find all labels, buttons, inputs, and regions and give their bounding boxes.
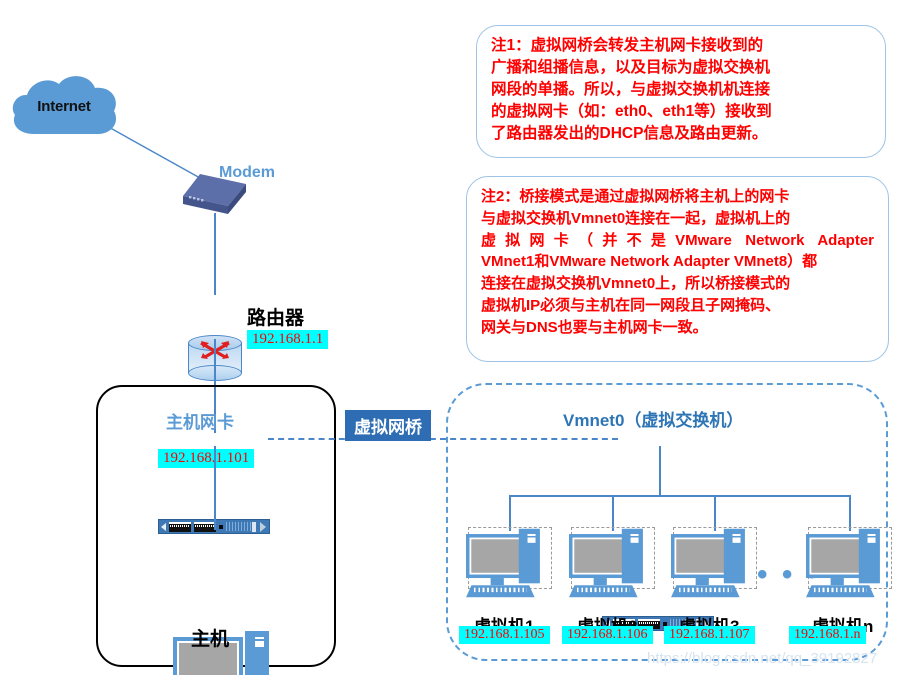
host-nic-label: 主机网卡 (166, 408, 234, 433)
note-2-line: 虚拟网卡（并不是VMware Network Adapter (481, 230, 874, 252)
note-1: 注1：虚拟网桥会转发主机网卡接收到的 广播和组播信息，以及目标为虚拟交换机 网段… (476, 25, 886, 158)
vm-ip-tag: 192.168.1.106 (562, 625, 653, 644)
vm-ip-value: 192.168.1.n (789, 626, 866, 644)
vm-ip-value: 192.168.1.106 (562, 626, 653, 644)
link-modem-router (214, 213, 216, 295)
note-2-line: 网关与DNS也要与主机网卡一致。 (481, 317, 874, 339)
internet-cloud: Internet (8, 72, 120, 144)
note-1-line: 的虚拟网卡（如：eth0、eth1等）接收到 (491, 101, 871, 123)
vmnet0-bus (509, 495, 850, 497)
link-vmnet0-vm1 (509, 495, 511, 531)
virtual-bridge-badge: 虚拟网桥 (345, 410, 431, 441)
note-2-line: VMnet1和VMware Network Adapter VMnet8）都 (481, 251, 874, 273)
host-nic-ip-tag: 192.168.1.101 (158, 449, 254, 468)
network-diagram-canvas: Internet Modem (0, 0, 899, 675)
link-vmnet0-vm3 (714, 495, 716, 531)
virtual-machine-icon (671, 527, 745, 590)
vm-ip-tag: 192.168.1.n (789, 625, 866, 644)
virtual-machine-icon (569, 527, 643, 590)
link-hostnic-host (214, 446, 216, 530)
vm-item (806, 527, 890, 599)
modem-label: Modem (219, 164, 275, 182)
virtual-bridge-label: 虚拟网桥 (345, 410, 431, 441)
watermark: https://blog.csdn.net/qq_39192827 (647, 650, 877, 667)
router-label: 路由器 (247, 303, 304, 330)
vm-ip-value: 192.168.1.107 (664, 626, 755, 644)
note-2-line: 连接在虚拟交换机Vmnet0上，所以桥接模式的 (481, 273, 874, 295)
virtual-machine-icon (806, 527, 880, 590)
virtual-machine-icon (466, 527, 540, 590)
vm-ip-value: 192.168.1.105 (459, 626, 550, 644)
note-2: 注2：桥接模式是通过虚拟网桥将主机上的网卡 与虚拟交换机Vmnet0连接在一起，… (466, 176, 889, 362)
router-ip-tag: 192.168.1.1 (247, 330, 328, 349)
note-2-line: 与虚拟交换机Vmnet0连接在一起，虚拟机上的 (481, 208, 874, 230)
note-2-line: 虚拟机IP必须与主机在同一网段且子网掩码、 (481, 295, 874, 317)
vm-item (569, 527, 653, 599)
vm-item (466, 527, 550, 599)
vm-ip-tag: 192.168.1.107 (664, 625, 755, 644)
internet-label: Internet (8, 98, 120, 115)
vmnet0-label: Vmnet0（虚拟交换机） (563, 406, 743, 431)
note-1-line: 广播和组播信息，以及目标为虚拟交换机 (491, 57, 871, 79)
note-1-line: 网段的单播。所以，与虚拟交换机机连接 (491, 79, 871, 101)
router-ip-value: 192.168.1.1 (247, 330, 328, 349)
link-vmnet0-vmn (849, 495, 851, 531)
note-1-line: 了路由器发出的DHCP信息及路由更新。 (491, 123, 871, 145)
vm-ip-tag: 192.168.1.105 (459, 625, 550, 644)
vmnet0-stem (659, 446, 661, 496)
host-nic-ip-value: 192.168.1.101 (158, 449, 254, 468)
note-1-line: 注1：虚拟网桥会转发主机网卡接收到的 (491, 35, 871, 57)
host-label: 主机 (191, 624, 229, 651)
vm-item (671, 527, 755, 599)
link-vmnet0-vm2 (612, 495, 614, 531)
note-2-line: 注2：桥接模式是通过虚拟网桥将主机上的网卡 (481, 186, 874, 208)
